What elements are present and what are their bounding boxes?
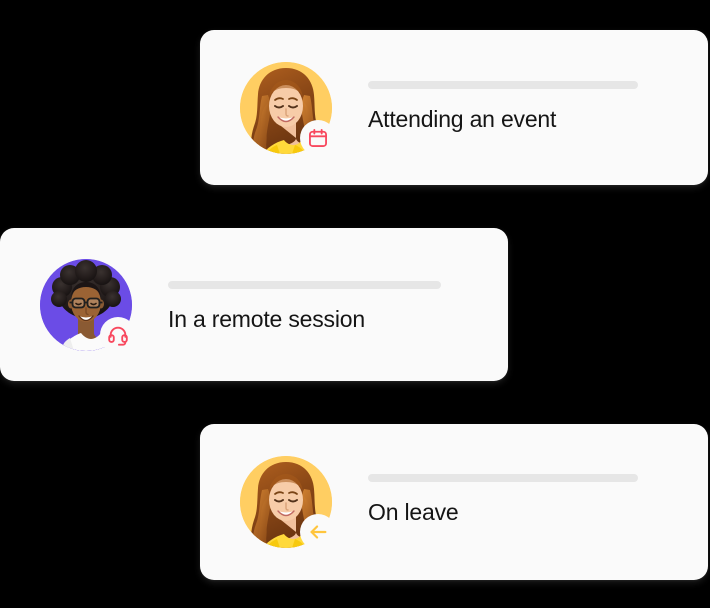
- status-card[interactable]: Attending an event: [200, 30, 708, 185]
- status-badge[interactable]: [100, 317, 136, 353]
- headset-icon: [107, 324, 129, 346]
- skeleton-placeholder-bar: [368, 81, 638, 89]
- card-body: Attending an event: [368, 30, 708, 185]
- avatar[interactable]: [40, 259, 132, 351]
- skeleton-placeholder-bar: [168, 281, 441, 289]
- avatar[interactable]: [240, 62, 332, 154]
- status-label: Attending an event: [368, 104, 556, 134]
- status-badge[interactable]: [300, 120, 336, 156]
- card-body: On leave: [368, 424, 708, 580]
- status-label: On leave: [368, 497, 458, 527]
- status-badge[interactable]: [300, 514, 336, 550]
- card-body: In a remote session: [168, 228, 508, 381]
- calendar-icon: [307, 127, 329, 149]
- status-label: In a remote session: [168, 304, 365, 334]
- status-card[interactable]: On leave: [200, 424, 708, 580]
- skeleton-placeholder-bar: [368, 474, 638, 482]
- arrow-left-icon: [307, 521, 329, 543]
- status-cards-stage: Attending an event: [0, 0, 710, 608]
- status-card[interactable]: In a remote session: [0, 228, 508, 381]
- avatar[interactable]: [240, 456, 332, 548]
